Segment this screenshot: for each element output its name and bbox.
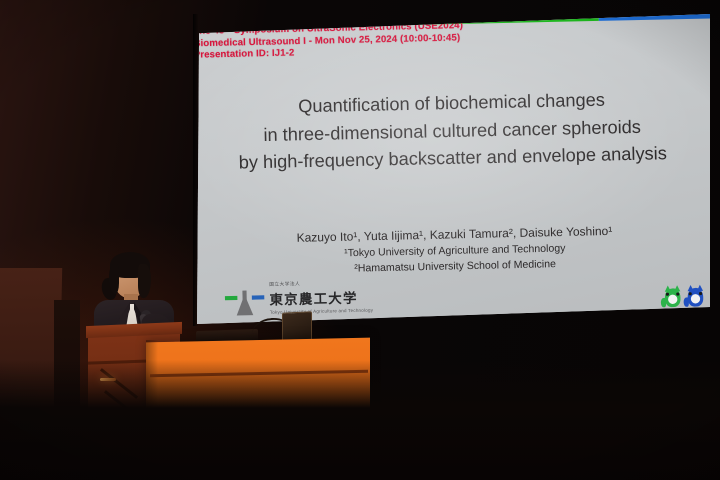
presenter-hair-right — [138, 264, 151, 298]
tuat-mark-icon — [225, 288, 265, 316]
tuat-mark-triangle — [236, 294, 253, 315]
slide-surface: The 45th Symposium on UltraSonic Electro… — [196, 14, 710, 324]
tuat-name-japanese: 東京農工大学 — [269, 287, 373, 309]
header-line1-ordinal: th — [224, 24, 231, 31]
blue-cat-mascot-icon — [685, 285, 705, 308]
blue-mascot-eye-right — [699, 292, 702, 295]
header-line1-prefix: The 45 — [196, 25, 224, 36]
auditorium-stage: The 45th Symposium on UltraSonic Electro… — [0, 0, 720, 480]
slide-title: Quantification of biochemical changes in… — [196, 84, 710, 178]
green-mascot-eye-right — [676, 292, 679, 295]
screen-left-edge-shadow — [193, 14, 198, 326]
green-cat-mascot-icon — [663, 285, 683, 308]
slide-header: The 45th Symposium on UltraSonic Electro… — [196, 17, 464, 61]
green-mascot-eye-left — [666, 293, 669, 296]
blue-mascot-eye-left — [689, 292, 692, 295]
accent-bar-blue — [598, 14, 710, 21]
stage-floor — [0, 360, 720, 480]
presenter-hair-left — [109, 264, 119, 294]
tuat-logo-text: 国立大学法人 東京農工大学 Tokyo University of Agricu… — [269, 279, 373, 314]
slide-authors: Kazuyo Ito¹, Yuta Iijima¹, Kazuki Tamura… — [196, 220, 710, 280]
tuat-logo: 国立大学法人 東京農工大学 Tokyo University of Agricu… — [225, 279, 374, 315]
tuat-mark-blue-bar — [252, 295, 265, 299]
mascot-group — [663, 285, 706, 309]
projection-screen: The 45th Symposium on UltraSonic Electro… — [196, 14, 710, 324]
